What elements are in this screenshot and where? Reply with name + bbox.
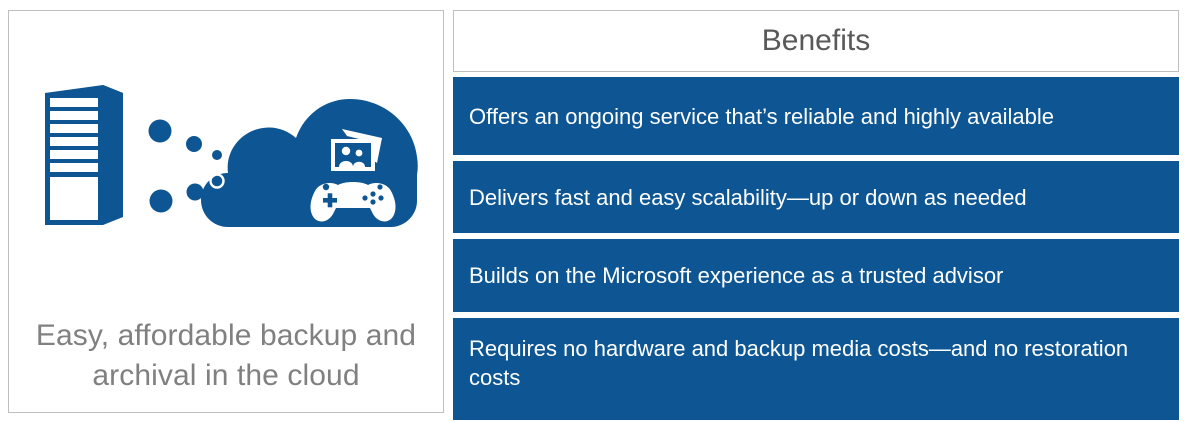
left-illustration-panel: Easy, affordable backup and archival in … — [8, 10, 444, 413]
benefit-item[interactable]: Offers an ongoing service that’s reliabl… — [453, 77, 1179, 155]
benefit-item-label: Delivers fast and easy scalability—up or… — [469, 183, 1163, 212]
slide-root: Easy, affordable backup and archival in … — [0, 0, 1189, 422]
benefit-item-label: Requires no hardware and backup media co… — [469, 334, 1163, 392]
cloud-backup-graphic — [9, 11, 443, 311]
benefits-header: Benefits — [453, 10, 1179, 72]
server-to-cloud-illustration — [9, 11, 443, 311]
benefit-item[interactable]: Builds on the Microsoft experience as a … — [453, 239, 1179, 312]
benefit-item-label: Offers an ongoing service that’s reliabl… — [469, 102, 1163, 131]
benefit-item[interactable]: Requires no hardware and backup media co… — [453, 318, 1179, 420]
benefits-panel: Benefits Offers an ongoing service that’… — [453, 10, 1179, 420]
benefit-item[interactable]: Delivers fast and easy scalability—up or… — [453, 161, 1179, 233]
benefits-title: Benefits — [762, 24, 870, 58]
left-panel-caption: Easy, affordable backup and archival in … — [25, 316, 427, 396]
benefit-item-label: Builds on the Microsoft experience as a … — [469, 261, 1163, 290]
server-rack-icon — [45, 85, 123, 225]
